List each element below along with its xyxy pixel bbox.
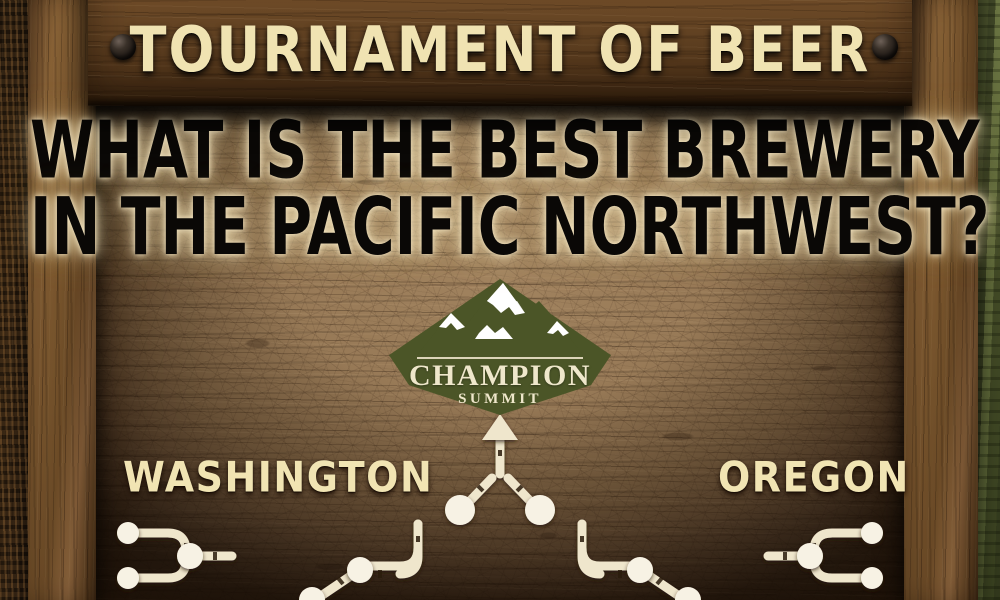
header-title: TOURNAMENT OF BEER [88,13,912,86]
badge-summit-text: SUMMIT [389,391,611,408]
node-wa-semi [445,495,475,525]
node-wa-4 [299,587,325,600]
region-label-washington: WASHINGTON [123,453,433,501]
region-label-oregon: OREGON [718,453,910,501]
question-heading: WHAT IS THE BEST BREWERY IN THE PACIFIC … [30,112,970,264]
or-semi-line-b [582,524,634,566]
node-or-2 [861,567,883,589]
bolt-left [110,34,136,60]
question-line-2: IN THE PACIFIC NORTHWEST? [30,188,970,264]
node-wa-1 [117,522,139,544]
node-or-1 [861,522,883,544]
bracket-nodes [117,495,883,600]
champion-arrow-icon [482,414,518,440]
plank-shadow [88,102,912,128]
champion-summit-badge: CHAMPION SUMMIT [389,279,611,415]
node-or-3 [797,543,823,569]
poster-root: WASHINGTON OREGON CHAMPION SUMMIT WHAT I… [0,0,1000,600]
node-wa-3 [177,543,203,569]
wa-semi-line-b [366,524,418,566]
node-or-4 [675,587,701,600]
bolt-right [872,34,898,60]
badge-champion-text: CHAMPION [389,359,611,393]
node-wa-5 [347,557,373,583]
node-or-5 [627,557,653,583]
node-wa-2 [117,567,139,589]
node-or-semi [525,495,555,525]
mountain-icon [417,283,583,355]
header-plank: BEERS OF PNW TOURNAMENT OF BEER [88,0,912,106]
